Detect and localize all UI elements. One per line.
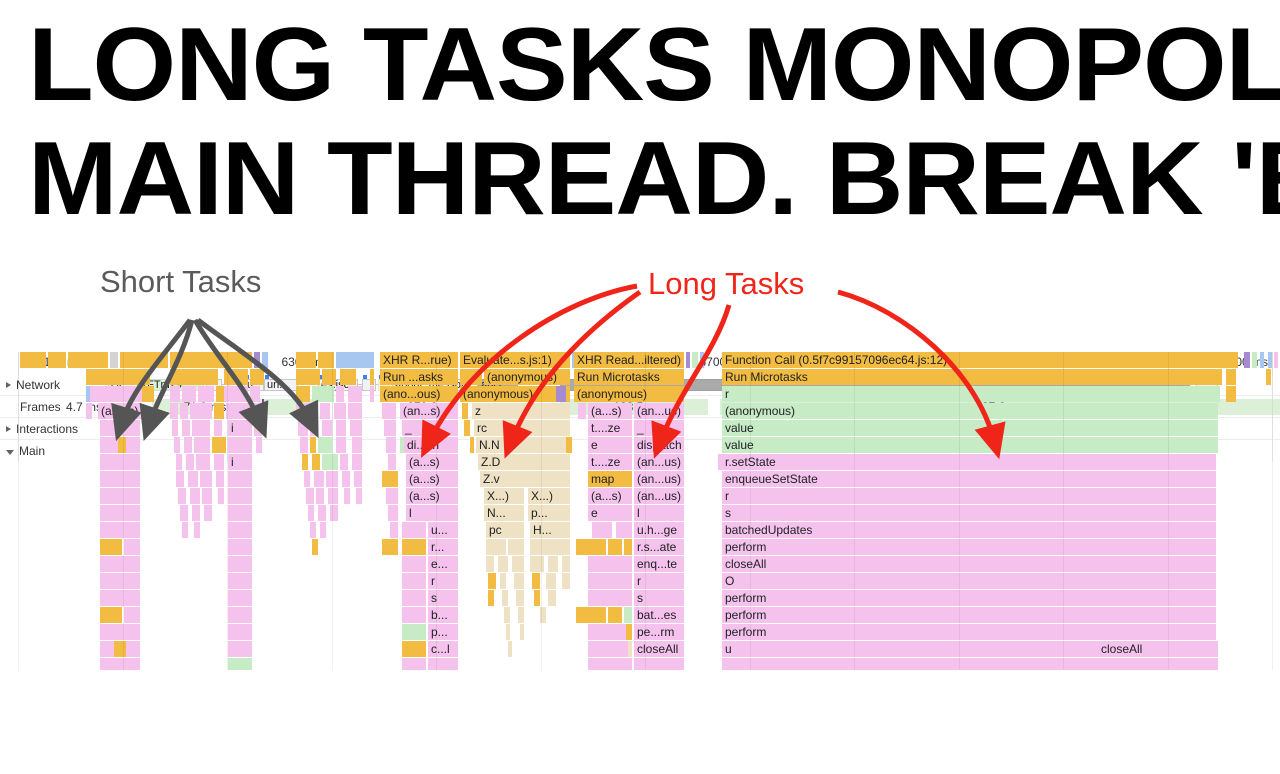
flame-cell-unlabeled[interactable] xyxy=(100,573,140,589)
flame-cell[interactable]: perform xyxy=(722,539,1216,555)
flame-cell-unlabeled[interactable] xyxy=(340,454,348,470)
flame-cell-unlabeled[interactable] xyxy=(100,505,140,521)
flame-chart[interactable]: XHR R...rue)Evaluate...s.js:1)XHR Read..… xyxy=(0,352,1280,670)
flame-cell[interactable]: map xyxy=(588,471,632,487)
flame-cell-unlabeled[interactable] xyxy=(214,420,222,436)
flame-cell[interactable]: u.h...ge xyxy=(634,522,684,538)
flame-cell[interactable]: closeAll xyxy=(634,641,684,657)
flame-cell[interactable]: O xyxy=(722,573,1216,589)
flame-cell[interactable]: perform xyxy=(722,607,1216,623)
flame-cell-unlabeled[interactable] xyxy=(314,471,324,487)
flame-cell-unlabeled[interactable] xyxy=(312,539,318,555)
flame-cell-unlabeled[interactable] xyxy=(388,454,396,470)
flame-cell[interactable]: l xyxy=(406,505,458,521)
flame-cell[interactable]: (ano...ous) xyxy=(380,386,458,402)
flame-cell[interactable]: s xyxy=(634,590,684,606)
flame-cell-unlabeled[interactable] xyxy=(592,522,612,538)
flame-cell[interactable]: pc xyxy=(486,522,524,538)
flame-cell[interactable]: e xyxy=(588,437,632,453)
flame-cell-unlabeled[interactable] xyxy=(340,369,356,385)
flame-cell-unlabeled[interactable] xyxy=(180,403,188,419)
flame-cell-unlabeled[interactable] xyxy=(308,505,314,521)
flame-cell-unlabeled[interactable] xyxy=(402,624,426,640)
flame-cell-unlabeled[interactable] xyxy=(336,352,374,368)
flame-cell-unlabeled[interactable] xyxy=(616,522,632,538)
flame-cell-unlabeled[interactable] xyxy=(90,369,150,385)
flame-cell[interactable]: r xyxy=(634,573,684,589)
flame-cell-unlabeled[interactable] xyxy=(512,556,524,572)
flame-cell-unlabeled[interactable] xyxy=(192,420,210,436)
flame-cell-unlabeled[interactable] xyxy=(142,386,154,402)
flame-cell-unlabeled[interactable] xyxy=(228,505,252,521)
flame-cell-unlabeled[interactable] xyxy=(320,522,326,538)
flame-cell[interactable]: Run Microtasks xyxy=(722,369,1222,385)
flame-cell-unlabeled[interactable] xyxy=(214,403,224,419)
flame-cell-unlabeled[interactable] xyxy=(198,369,218,385)
flame-cell[interactable]: i xyxy=(228,454,252,470)
flame-cell[interactable]: enq...te xyxy=(634,556,684,572)
flame-cell-unlabeled[interactable] xyxy=(228,539,252,555)
flame-cell[interactable]: (an...us) xyxy=(634,488,684,504)
flame-cell-unlabeled[interactable] xyxy=(578,403,586,419)
flame-cell-unlabeled[interactable] xyxy=(182,522,188,538)
flame-cell-unlabeled[interactable] xyxy=(252,403,262,419)
flame-cell[interactable]: e... xyxy=(428,556,458,572)
flame-cell[interactable]: _ xyxy=(402,420,458,436)
flame-cell-unlabeled[interactable] xyxy=(114,641,126,657)
gridline xyxy=(854,352,855,670)
flame-cell-unlabeled[interactable] xyxy=(228,488,252,504)
flame-cell-unlabeled[interactable] xyxy=(180,505,188,521)
chevron-right-icon[interactable] xyxy=(6,382,11,388)
chevron-down-icon[interactable] xyxy=(6,450,14,455)
flame-cell-unlabeled[interactable] xyxy=(228,607,252,623)
flame-cell[interactable]: di...ch xyxy=(404,437,458,453)
flame-cell-unlabeled[interactable] xyxy=(402,641,426,657)
flame-cell[interactable]: (a...s) xyxy=(588,403,632,419)
flame-cell[interactable]: value xyxy=(722,420,1218,436)
flame-cell-unlabeled[interactable] xyxy=(370,386,374,402)
flame-cell-unlabeled[interactable] xyxy=(200,352,208,368)
flame-cell-unlabeled[interactable] xyxy=(228,590,252,606)
flame-cell-unlabeled[interactable] xyxy=(1266,369,1271,385)
flame-cell[interactable]: perform xyxy=(722,624,1216,640)
flame-cell[interactable]: t....ze xyxy=(588,420,632,436)
flame-cell-unlabeled[interactable] xyxy=(218,488,224,504)
flame-cell-unlabeled[interactable] xyxy=(322,369,336,385)
flame-row: p...pe...rmperform xyxy=(0,624,1280,641)
flame-cell-unlabeled[interactable] xyxy=(202,488,212,504)
flame-cell-unlabeled[interactable] xyxy=(302,454,308,470)
flame-cell[interactable]: N... xyxy=(484,505,524,521)
flame-cell[interactable]: rc xyxy=(474,420,570,436)
flame-cell[interactable]: XHR R...rue) xyxy=(380,352,458,368)
flame-cell-unlabeled[interactable] xyxy=(336,386,344,402)
flame-cell-unlabeled[interactable] xyxy=(532,573,540,589)
flame-cell-unlabeled[interactable] xyxy=(1098,658,1218,670)
flame-cell[interactable]: Evaluate...s.js:1) xyxy=(460,352,570,368)
flame-cell-unlabeled[interactable] xyxy=(100,658,140,670)
flame-cell[interactable]: value xyxy=(722,437,1218,453)
flame-cell-unlabeled[interactable] xyxy=(382,539,398,555)
flame-cell-unlabeled[interactable] xyxy=(310,420,318,436)
flame-cell-unlabeled[interactable] xyxy=(464,420,470,436)
flame-cell-unlabeled[interactable] xyxy=(354,471,362,487)
flame-cell-unlabeled[interactable] xyxy=(306,488,314,504)
flame-cell-unlabeled[interactable] xyxy=(188,471,198,487)
flame-cell-unlabeled[interactable] xyxy=(192,505,200,521)
flame-cell-unlabeled[interactable] xyxy=(316,488,324,504)
flame-cell-unlabeled[interactable] xyxy=(228,573,252,589)
flame-cell-unlabeled[interactable] xyxy=(386,437,396,453)
flame-cell-unlabeled[interactable] xyxy=(336,420,346,436)
flame-cell-unlabeled[interactable] xyxy=(344,488,350,504)
flame-cell-unlabeled[interactable] xyxy=(194,437,210,453)
flame-cell-unlabeled[interactable] xyxy=(534,590,540,606)
flame-cell-unlabeled[interactable] xyxy=(470,437,474,453)
flame-cell-unlabeled[interactable] xyxy=(1244,352,1250,368)
flame-cell-unlabeled[interactable] xyxy=(588,641,632,657)
flame-cell-unlabeled[interactable] xyxy=(462,403,468,419)
flame-cell[interactable]: (a...s) xyxy=(588,488,632,504)
flame-cell-unlabeled[interactable] xyxy=(200,471,212,487)
flame-cell-unlabeled[interactable] xyxy=(194,522,200,538)
flame-cell[interactable]: p... xyxy=(528,505,570,521)
flame-cell-unlabeled[interactable] xyxy=(402,590,426,606)
flame-cell[interactable]: Run Microtasks xyxy=(574,369,684,385)
flame-cell[interactable]: enqueueSetState xyxy=(722,471,1216,487)
flame-cell-unlabeled[interactable] xyxy=(1252,352,1257,368)
flame-cell-unlabeled[interactable] xyxy=(254,420,262,436)
flame-cell-unlabeled[interactable] xyxy=(214,454,224,470)
flame-cell-unlabeled[interactable] xyxy=(170,386,180,402)
flame-cell-unlabeled[interactable] xyxy=(508,641,512,657)
track-label-network[interactable]: Network xyxy=(0,374,60,395)
flame-cell-unlabeled[interactable] xyxy=(182,386,196,402)
flame-cell[interactable]: X...) xyxy=(528,488,570,504)
flame-cell-unlabeled[interactable] xyxy=(228,624,252,640)
flame-cell[interactable]: (a...s) xyxy=(406,454,458,470)
flame-cell-unlabeled[interactable] xyxy=(628,641,632,657)
flame-cell[interactable]: s xyxy=(428,590,458,606)
flame-cell-unlabeled[interactable] xyxy=(608,607,622,623)
flame-cell-unlabeled[interactable] xyxy=(304,471,310,487)
flame-cell-unlabeled[interactable] xyxy=(100,539,122,555)
flame-cell-unlabeled[interactable] xyxy=(624,539,632,555)
flame-cell-unlabeled[interactable] xyxy=(508,539,524,555)
flame-cell-unlabeled[interactable] xyxy=(300,437,308,453)
flame-cell-unlabeled[interactable] xyxy=(514,573,524,589)
flame-cell-unlabeled[interactable] xyxy=(390,522,398,538)
flame-row: i(a...s)Z.Dt....ze(an...us)r.setState xyxy=(0,454,1280,471)
flame-cell-unlabeled[interactable] xyxy=(384,420,396,436)
flame-cell-unlabeled[interactable] xyxy=(460,369,482,385)
flame-cell-unlabeled[interactable] xyxy=(100,590,140,606)
flame-cell-unlabeled[interactable] xyxy=(224,352,252,368)
flame-cell-unlabeled[interactable] xyxy=(320,403,330,419)
flame-cell-unlabeled[interactable] xyxy=(562,573,570,589)
flame-cell[interactable]: e xyxy=(588,505,632,521)
flame-cell-unlabeled[interactable] xyxy=(624,607,632,623)
flame-cell-unlabeled[interactable] xyxy=(100,420,140,436)
flame-cell-unlabeled[interactable] xyxy=(576,607,606,623)
flame-cell-unlabeled[interactable] xyxy=(198,386,214,402)
flame-cell-unlabeled[interactable] xyxy=(1274,352,1278,368)
flame-cell-unlabeled[interactable] xyxy=(506,624,510,640)
chevron-right-icon[interactable] xyxy=(6,426,11,432)
flame-cell-unlabeled[interactable] xyxy=(556,386,566,402)
flame-cell-unlabeled[interactable] xyxy=(322,420,332,436)
flame-cell-unlabeled[interactable] xyxy=(256,437,262,453)
flame-cell[interactable]: l xyxy=(634,505,684,521)
flame-cell[interactable]: (a...s) xyxy=(406,471,458,487)
flame-cell-unlabeled[interactable] xyxy=(124,539,140,555)
flame-cell[interactable]: Z.v xyxy=(480,471,570,487)
flame-cell-unlabeled[interactable] xyxy=(100,488,140,504)
flame-cell-unlabeled[interactable] xyxy=(402,522,426,538)
flame-cell-unlabeled[interactable] xyxy=(310,522,316,538)
flame-cell-unlabeled[interactable] xyxy=(100,454,140,470)
flame-cell-unlabeled[interactable] xyxy=(124,607,140,623)
flame-cell-unlabeled[interactable] xyxy=(382,471,398,487)
flame-cell-unlabeled[interactable] xyxy=(502,590,508,606)
flame-cell-unlabeled[interactable] xyxy=(1226,386,1236,402)
flame-cell-unlabeled[interactable] xyxy=(176,471,184,487)
flame-cell-unlabeled[interactable] xyxy=(296,403,302,419)
flame-cell-unlabeled[interactable] xyxy=(488,590,494,606)
flame-cell-unlabeled[interactable] xyxy=(48,352,66,368)
flame-cell[interactable]: (an...s) xyxy=(400,403,458,419)
flame-cell[interactable]: (a...s) xyxy=(406,488,458,504)
flame-cell-unlabeled[interactable] xyxy=(336,437,346,453)
flame-cell-unlabeled[interactable] xyxy=(228,522,252,538)
gridline xyxy=(541,352,542,670)
flame-cell-unlabeled[interactable] xyxy=(428,658,458,670)
flame-cell[interactable]: u... xyxy=(428,522,458,538)
flame-cell-unlabeled[interactable] xyxy=(350,420,362,436)
flame-cell-unlabeled[interactable] xyxy=(228,658,252,670)
flame-cell[interactable]: N.N xyxy=(476,437,570,453)
flame-cell[interactable]: p... xyxy=(428,624,458,640)
flame-cell-unlabeled[interactable] xyxy=(90,386,142,402)
flame-cell[interactable]: b... xyxy=(428,607,458,623)
flame-cell-unlabeled[interactable] xyxy=(546,573,556,589)
flame-cell-unlabeled[interactable] xyxy=(402,658,426,670)
flame-cell[interactable]: z xyxy=(472,403,570,419)
flame-cell-unlabeled[interactable] xyxy=(296,352,316,368)
flame-cell-unlabeled[interactable] xyxy=(100,522,140,538)
flame-cell[interactable]: dispatch xyxy=(634,437,684,453)
flame-cell-unlabeled[interactable] xyxy=(486,556,494,572)
flame-cell-unlabeled[interactable] xyxy=(370,369,374,385)
flame-cell-unlabeled[interactable] xyxy=(204,505,212,521)
flame-cell-unlabeled[interactable] xyxy=(548,556,558,572)
flame-cell-unlabeled[interactable] xyxy=(566,437,572,453)
flame-cell-unlabeled[interactable] xyxy=(334,403,346,419)
flame-cell-unlabeled[interactable] xyxy=(228,471,252,487)
flame-cell-unlabeled[interactable] xyxy=(402,539,426,555)
flame-cell-unlabeled[interactable] xyxy=(588,573,632,589)
flame-cell-unlabeled[interactable] xyxy=(170,369,198,385)
flame-cell-unlabeled[interactable] xyxy=(352,454,362,470)
flame-cell[interactable]: i xyxy=(228,420,252,436)
flame-cell[interactable]: Z.D xyxy=(478,454,570,470)
flame-cell[interactable]: batchedUpdates xyxy=(722,522,1216,538)
flame-cell[interactable]: r... xyxy=(428,539,458,555)
flame-cell-unlabeled[interactable] xyxy=(626,624,632,640)
flame-cell-unlabeled[interactable] xyxy=(100,607,122,623)
flame-cell-unlabeled[interactable] xyxy=(500,573,506,589)
flame-cell[interactable]: r.s...ate xyxy=(634,539,684,555)
flame-cell-unlabeled[interactable] xyxy=(402,556,426,572)
flame-cell-unlabeled[interactable] xyxy=(352,437,362,453)
flame-cell-unlabeled[interactable] xyxy=(504,607,510,623)
flame-cell-unlabeled[interactable] xyxy=(402,573,426,589)
flame-cell[interactable]: (an...us) xyxy=(634,471,684,487)
flame-cell-unlabeled[interactable] xyxy=(170,403,178,419)
flame-cell-unlabeled[interactable] xyxy=(186,454,194,470)
flame-cell[interactable]: s xyxy=(722,505,1216,521)
flame-cell-unlabeled[interactable] xyxy=(226,403,250,419)
flame-cell-unlabeled[interactable] xyxy=(400,437,404,453)
flame-cell-unlabeled[interactable] xyxy=(120,352,168,368)
flame-cell-unlabeled[interactable] xyxy=(228,641,252,657)
flame-cell[interactable]: c...l xyxy=(428,641,458,657)
flame-cell-unlabeled[interactable] xyxy=(562,556,570,572)
flame-cell-unlabeled[interactable] xyxy=(348,386,362,402)
flame-cell[interactable]: Function Call (0.5f7c99157096ec64.js:12) xyxy=(722,352,1238,368)
flame-cell[interactable]: X...) xyxy=(484,488,524,504)
flame-cell-unlabeled[interactable] xyxy=(250,369,264,385)
flame-cell[interactable]: closeAll xyxy=(722,556,1216,572)
flame-cell-unlabeled[interactable] xyxy=(700,352,704,368)
flame-cell-unlabeled[interactable] xyxy=(516,590,524,606)
flame-cell[interactable]: r xyxy=(722,488,1216,504)
flame-cell-unlabeled[interactable] xyxy=(318,437,332,453)
flame-cell-unlabeled[interactable] xyxy=(182,420,190,436)
flame-row: lN...p...els xyxy=(0,505,1280,522)
flame-cell-unlabeled[interactable] xyxy=(228,556,252,572)
track-label-frames: Frames xyxy=(0,396,61,417)
flame-cell[interactable]: pe...rm xyxy=(634,624,684,640)
flame-cell-unlabeled[interactable] xyxy=(382,403,396,419)
flame-cell-unlabeled[interactable] xyxy=(20,352,46,368)
flame-cell-unlabeled[interactable] xyxy=(228,437,252,453)
flame-cell-unlabeled[interactable] xyxy=(184,437,192,453)
flame-cell-unlabeled[interactable] xyxy=(588,590,632,606)
flame-cell-unlabeled[interactable] xyxy=(576,539,606,555)
flame-cell[interactable]: H... xyxy=(530,522,570,538)
flame-cell-unlabeled[interactable] xyxy=(328,488,338,504)
flame-cell-unlabeled[interactable] xyxy=(68,352,108,368)
flame-cell[interactable]: XHR Read...iltered) xyxy=(574,352,684,368)
flame-cell-unlabeled[interactable] xyxy=(318,505,326,521)
flame-cell-unlabeled[interactable] xyxy=(588,556,632,572)
flame-cell-unlabeled[interactable] xyxy=(530,556,544,572)
flame-cell[interactable]: (an...us) xyxy=(634,454,684,470)
flame-cell-unlabeled[interactable] xyxy=(254,352,260,368)
flame-cell[interactable]: r.setState xyxy=(722,454,1216,470)
flame-row: di...chN.Nedispatchvalue xyxy=(0,437,1280,454)
flame-cell-unlabeled[interactable] xyxy=(100,471,140,487)
flame-row: i_rct....ze_value xyxy=(0,420,1280,437)
flame-cell-unlabeled[interactable] xyxy=(174,437,180,453)
flame-cell[interactable]: t....ze xyxy=(588,454,632,470)
flame-cell-unlabeled[interactable] xyxy=(548,590,556,606)
flame-cell-unlabeled[interactable] xyxy=(608,539,622,555)
flame-cell-unlabeled[interactable] xyxy=(216,471,224,487)
flame-cell[interactable]: Run ...asks xyxy=(380,369,458,385)
flame-cell[interactable]: (an...s) xyxy=(98,403,142,419)
flame-cell-unlabeled[interactable] xyxy=(486,539,506,555)
flame-cell-unlabeled[interactable] xyxy=(386,488,398,504)
flame-cell-unlabeled[interactable] xyxy=(348,403,362,419)
flame-cell[interactable]: (anonymous) xyxy=(722,403,1218,419)
flame-cell-unlabeled[interactable] xyxy=(86,403,92,419)
flame-cell[interactable]: perform xyxy=(722,590,1216,606)
flame-cell-unlabeled[interactable] xyxy=(342,471,350,487)
flame-cell[interactable]: r xyxy=(722,386,1220,402)
flame-cell[interactable]: (anonymous) xyxy=(484,369,570,385)
flame-cell-unlabeled[interactable] xyxy=(196,454,210,470)
flame-cell[interactable]: (anonymous) xyxy=(460,386,570,402)
flame-cell-unlabeled[interactable] xyxy=(178,488,186,504)
flame-cell-unlabeled[interactable] xyxy=(100,624,140,640)
gridline xyxy=(123,352,124,670)
flame-cell-unlabeled[interactable] xyxy=(312,454,320,470)
flame-cell-unlabeled[interactable] xyxy=(110,352,118,368)
flame-cell-unlabeled[interactable] xyxy=(262,352,268,368)
track-label-interactions[interactable]: Interactions xyxy=(0,418,78,439)
flame-cell-unlabeled[interactable] xyxy=(488,573,496,589)
flame-cell-unlabeled[interactable] xyxy=(520,624,524,640)
flame-cell-unlabeled[interactable] xyxy=(634,658,684,670)
flame-cell-unlabeled[interactable] xyxy=(190,403,212,419)
flame-cell-unlabeled[interactable] xyxy=(250,386,260,402)
flame-cell-unlabeled[interactable] xyxy=(402,607,426,623)
flame-cell-unlabeled[interactable] xyxy=(296,369,320,385)
flame-cell-unlabeled[interactable] xyxy=(304,403,318,419)
track-label-main[interactable]: Main xyxy=(0,440,45,462)
flame-cell-unlabeled[interactable] xyxy=(718,454,722,470)
flame-cell-unlabeled[interactable] xyxy=(176,454,182,470)
flame-cell-unlabeled[interactable] xyxy=(298,420,308,436)
flame-cell-unlabeled[interactable] xyxy=(212,437,226,453)
flame-cell[interactable]: bat...es xyxy=(634,607,684,623)
flame-cell[interactable]: (anonymous) xyxy=(574,386,684,402)
flame-cell-unlabeled[interactable] xyxy=(692,352,698,368)
flame-cell-unlabeled[interactable] xyxy=(190,488,200,504)
flame-cell[interactable]: _ xyxy=(634,420,684,436)
flame-cell-unlabeled[interactable] xyxy=(530,539,570,555)
flame-cell-unlabeled[interactable] xyxy=(1226,369,1236,385)
flame-cell-unlabeled[interactable] xyxy=(356,488,362,504)
flame-cell[interactable]: closeAll xyxy=(1098,641,1218,657)
flame-cell-unlabeled[interactable] xyxy=(518,607,524,623)
flame-cell-unlabeled[interactable] xyxy=(588,658,632,670)
flame-cell-unlabeled[interactable] xyxy=(296,386,310,402)
flame-cell-unlabeled[interactable] xyxy=(1260,352,1264,368)
flame-cell-unlabeled[interactable] xyxy=(310,437,316,453)
flame-cell-unlabeled[interactable] xyxy=(498,556,508,572)
flame-cell-unlabeled[interactable] xyxy=(100,556,140,572)
flame-cell[interactable]: r xyxy=(428,573,458,589)
flame-cell-unlabeled[interactable] xyxy=(388,505,398,521)
flame-cell[interactable]: (an...us) xyxy=(634,403,684,419)
flame-cell-unlabeled[interactable] xyxy=(322,454,338,470)
flame-cell-unlabeled[interactable] xyxy=(172,420,178,436)
flame-cell-unlabeled[interactable] xyxy=(686,352,690,368)
